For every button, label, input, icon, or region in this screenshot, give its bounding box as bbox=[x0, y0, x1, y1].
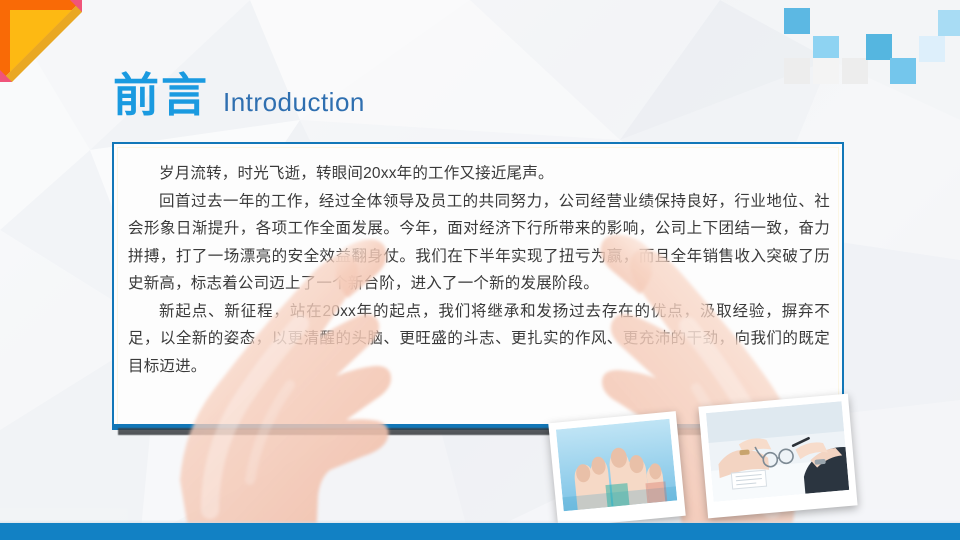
mosaic-square bbox=[784, 58, 810, 84]
slide-title: 前言 Introduction bbox=[113, 72, 365, 118]
photo-business-handshake-meeting bbox=[698, 394, 857, 519]
mosaic-square bbox=[938, 10, 960, 36]
mosaic-square bbox=[866, 34, 892, 60]
mosaic-square bbox=[842, 58, 868, 84]
mosaic-square bbox=[890, 58, 916, 84]
body-paragraph: 岁月流转，时光飞逝，转眼间20xx年的工作又接近尾声。 bbox=[128, 160, 830, 188]
blue-square-mosaic bbox=[778, 0, 960, 86]
photo-thumbs-up-team-image bbox=[556, 419, 677, 512]
photo-thumbs-up-team bbox=[548, 411, 685, 528]
photo-business-meeting-image bbox=[706, 401, 849, 502]
mosaic-square bbox=[813, 58, 839, 84]
body-paragraph: 回首过去一年的工作，经过全体领导及员工的共同努力，公司经营业绩保持良好，行业地位… bbox=[128, 188, 830, 298]
introduction-body-text: 岁月流转，时光飞逝，转眼间20xx年的工作又接近尾声。 回首过去一年的工作，经过… bbox=[128, 160, 830, 380]
triangle-corner-ornament-icon bbox=[0, 0, 82, 82]
page-title-en: Introduction bbox=[223, 89, 365, 115]
presentation-slide: 前言 Introduction 岁月流转，时光飞逝，转眼间20xx年的工作又接近… bbox=[0, 0, 960, 540]
page-title-cn: 前言 bbox=[113, 72, 209, 118]
body-paragraph: 新起点、新征程，站在20xx年的起点，我们将继承和发扬过去存在的优点，汲取经验，… bbox=[128, 298, 830, 381]
bottom-accent-bar bbox=[0, 523, 960, 540]
mosaic-square bbox=[784, 8, 810, 34]
mosaic-square bbox=[919, 36, 945, 62]
